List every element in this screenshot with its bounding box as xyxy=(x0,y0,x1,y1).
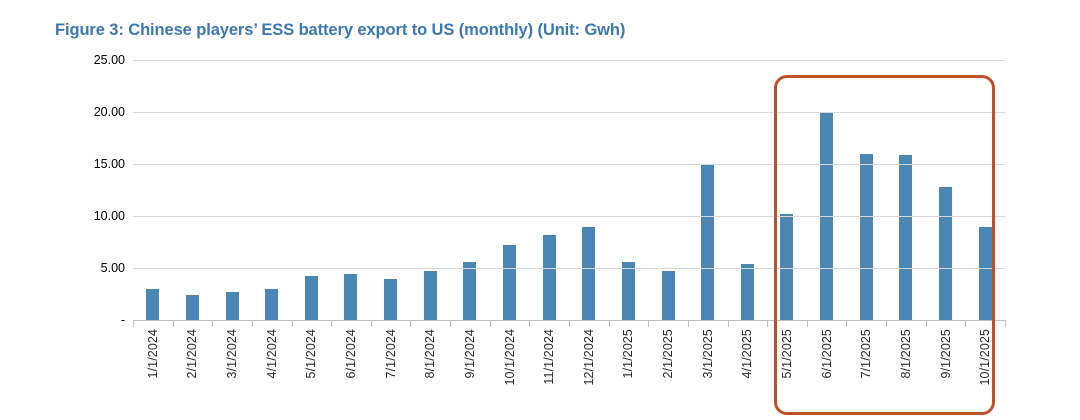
bar-slot xyxy=(212,60,252,320)
bar[interactable] xyxy=(622,262,635,320)
x-axis-tick-mark xyxy=(688,320,689,327)
bar[interactable] xyxy=(186,295,199,320)
x-axis-tick-mark xyxy=(886,320,887,327)
bar-slot xyxy=(767,60,807,320)
bar[interactable] xyxy=(503,245,516,320)
x-axis-tick-mark xyxy=(609,320,610,327)
bar-slot xyxy=(410,60,450,320)
bar-slot xyxy=(846,60,886,320)
x-axis-label-slot: 3/1/2024 xyxy=(212,329,252,378)
x-axis-tick-mark xyxy=(846,320,847,327)
x-axis-tick-label: 6/1/2025 xyxy=(820,329,834,378)
x-axis-label-slot: 6/1/2024 xyxy=(331,329,371,378)
x-axis-tick-label: 1/1/2025 xyxy=(621,329,635,378)
bar[interactable] xyxy=(701,164,714,320)
gridline xyxy=(133,216,1005,217)
bar-slot xyxy=(569,60,609,320)
bar[interactable] xyxy=(384,279,397,320)
x-axis-label-slot: 10/1/2025 xyxy=(965,329,1005,386)
bar[interactable] xyxy=(226,292,239,320)
x-axis-label-slot: 10/1/2024 xyxy=(490,329,530,386)
x-axis-label-slot: 8/1/2025 xyxy=(886,329,926,378)
x-axis-tick-mark xyxy=(212,320,213,327)
bar-slot xyxy=(450,60,490,320)
x-axis-tick-label: 1/1/2024 xyxy=(146,329,160,378)
x-axis-tick-label: 9/1/2025 xyxy=(939,329,953,378)
gridline xyxy=(133,268,1005,269)
x-axis-tick-mark xyxy=(173,320,174,327)
x-axis-tick-mark xyxy=(450,320,451,327)
bar-slot xyxy=(529,60,569,320)
y-axis-tick-label: - xyxy=(121,313,125,327)
gridline xyxy=(133,60,1005,61)
bar[interactable] xyxy=(741,264,754,320)
x-axis-tick-label: 8/1/2025 xyxy=(899,329,913,378)
x-axis-tick-mark xyxy=(490,320,491,327)
x-axis-label-slot: 8/1/2024 xyxy=(410,329,450,378)
bar[interactable] xyxy=(979,227,992,320)
x-axis-label-slot: 1/1/2024 xyxy=(133,329,173,378)
x-axis-label-slot: 11/1/2024 xyxy=(529,329,569,385)
bar-slot xyxy=(292,60,332,320)
x-axis-tick-label: 6/1/2024 xyxy=(344,329,358,378)
figure-container: Figure 3: Chinese players’ ESS battery e… xyxy=(0,0,1080,420)
y-axis-tick-label: 5.00 xyxy=(101,261,125,275)
x-axis-tick-mark xyxy=(1005,320,1006,327)
x-axis-tick-label: 7/1/2024 xyxy=(384,329,398,378)
x-axis-tick-label: 4/1/2025 xyxy=(740,329,754,378)
x-axis-tick-label: 12/1/2024 xyxy=(582,329,596,386)
bar[interactable] xyxy=(582,227,595,320)
x-axis-tick-mark xyxy=(767,320,768,327)
x-axis-label-slot: 2/1/2024 xyxy=(173,329,213,378)
bar[interactable] xyxy=(662,271,675,320)
x-axis-tick-label: 5/1/2025 xyxy=(780,329,794,378)
x-axis-label-slot: 5/1/2025 xyxy=(767,329,807,378)
x-axis-tick-label: 9/1/2024 xyxy=(463,329,477,378)
bar[interactable] xyxy=(939,187,952,320)
bar-slot xyxy=(807,60,847,320)
x-axis-tick-label: 4/1/2024 xyxy=(265,329,279,378)
bar-slot xyxy=(609,60,649,320)
x-axis-label-slot: 4/1/2025 xyxy=(728,329,768,378)
x-axis-tick-mark xyxy=(292,320,293,327)
y-axis-tick-label: 20.00 xyxy=(94,105,125,119)
x-axis-tick-mark xyxy=(133,320,134,327)
x-axis-label-slot: 2/1/2025 xyxy=(648,329,688,378)
chart-title: Figure 3: Chinese players’ ESS battery e… xyxy=(55,21,625,40)
gridline xyxy=(133,164,1005,165)
bar-slot xyxy=(688,60,728,320)
bar[interactable] xyxy=(463,262,476,320)
x-axis-tick-label: 7/1/2025 xyxy=(859,329,873,378)
bar-slot xyxy=(173,60,213,320)
bar[interactable] xyxy=(146,289,159,320)
x-axis-tick-mark xyxy=(371,320,372,327)
bar[interactable] xyxy=(265,289,278,320)
bar-slot xyxy=(490,60,530,320)
x-axis-tick-mark xyxy=(529,320,530,327)
x-axis-tick-mark xyxy=(410,320,411,327)
x-axis-tick-label: 3/1/2024 xyxy=(225,329,239,378)
bar-slot xyxy=(331,60,371,320)
x-axis-label-slot: 6/1/2025 xyxy=(807,329,847,378)
x-axis-tick-label: 2/1/2024 xyxy=(185,329,199,378)
x-axis-tick-label: 10/1/2025 xyxy=(978,329,992,386)
x-axis-label-slot: 1/1/2025 xyxy=(609,329,649,378)
x-axis-label-slot: 7/1/2025 xyxy=(846,329,886,378)
x-axis-tick-label: 2/1/2025 xyxy=(661,329,675,378)
x-axis-tick-label: 3/1/2025 xyxy=(701,329,715,378)
y-axis-tick-label: 25.00 xyxy=(94,53,125,67)
bar-slot xyxy=(252,60,292,320)
bar[interactable] xyxy=(424,271,437,320)
gridline xyxy=(133,112,1005,113)
x-axis-tick-mark xyxy=(252,320,253,327)
y-axis-tick-label: 10.00 xyxy=(94,209,125,223)
bar[interactable] xyxy=(899,155,912,320)
y-axis: 25.0020.0015.0010.005.00- xyxy=(55,60,125,320)
x-axis-label-slot: 5/1/2024 xyxy=(292,329,332,378)
plot-area xyxy=(133,60,1005,320)
bar-slot xyxy=(728,60,768,320)
bar[interactable] xyxy=(344,274,357,320)
x-axis-tick-mark xyxy=(331,320,332,327)
x-axis-label-slot: 12/1/2024 xyxy=(569,329,609,386)
bar[interactable] xyxy=(860,154,873,320)
x-axis-label-slot: 7/1/2024 xyxy=(371,329,411,378)
bar[interactable] xyxy=(543,235,556,320)
bar-slot xyxy=(133,60,173,320)
x-axis: 1/1/20242/1/20243/1/20244/1/20245/1/2024… xyxy=(133,320,1005,420)
bar-slot xyxy=(371,60,411,320)
x-axis-label-slot: 4/1/2024 xyxy=(252,329,292,378)
x-axis-tick-label: 5/1/2024 xyxy=(304,329,318,378)
bar-slot xyxy=(965,60,1005,320)
x-axis-tick-mark xyxy=(965,320,966,327)
x-axis-label-slot: 9/1/2024 xyxy=(450,329,490,378)
x-axis-label-slot: 3/1/2025 xyxy=(688,329,728,378)
bar-slot xyxy=(926,60,966,320)
x-axis-tick-mark xyxy=(926,320,927,327)
bar-slot xyxy=(886,60,926,320)
x-axis-tick-label: 10/1/2024 xyxy=(503,329,517,386)
bar[interactable] xyxy=(780,214,793,320)
x-axis-tick-label: 8/1/2024 xyxy=(423,329,437,378)
x-axis-label-slot: 9/1/2025 xyxy=(926,329,966,378)
bar-series xyxy=(133,60,1005,320)
x-axis-tick-mark xyxy=(648,320,649,327)
x-axis-tick-mark xyxy=(807,320,808,327)
x-axis-tick-label: 11/1/2024 xyxy=(542,329,556,385)
x-axis-tick-mark xyxy=(569,320,570,327)
bar-slot xyxy=(648,60,688,320)
bar[interactable] xyxy=(305,276,318,320)
y-axis-tick-label: 15.00 xyxy=(94,157,125,171)
x-axis-tick-mark xyxy=(728,320,729,327)
